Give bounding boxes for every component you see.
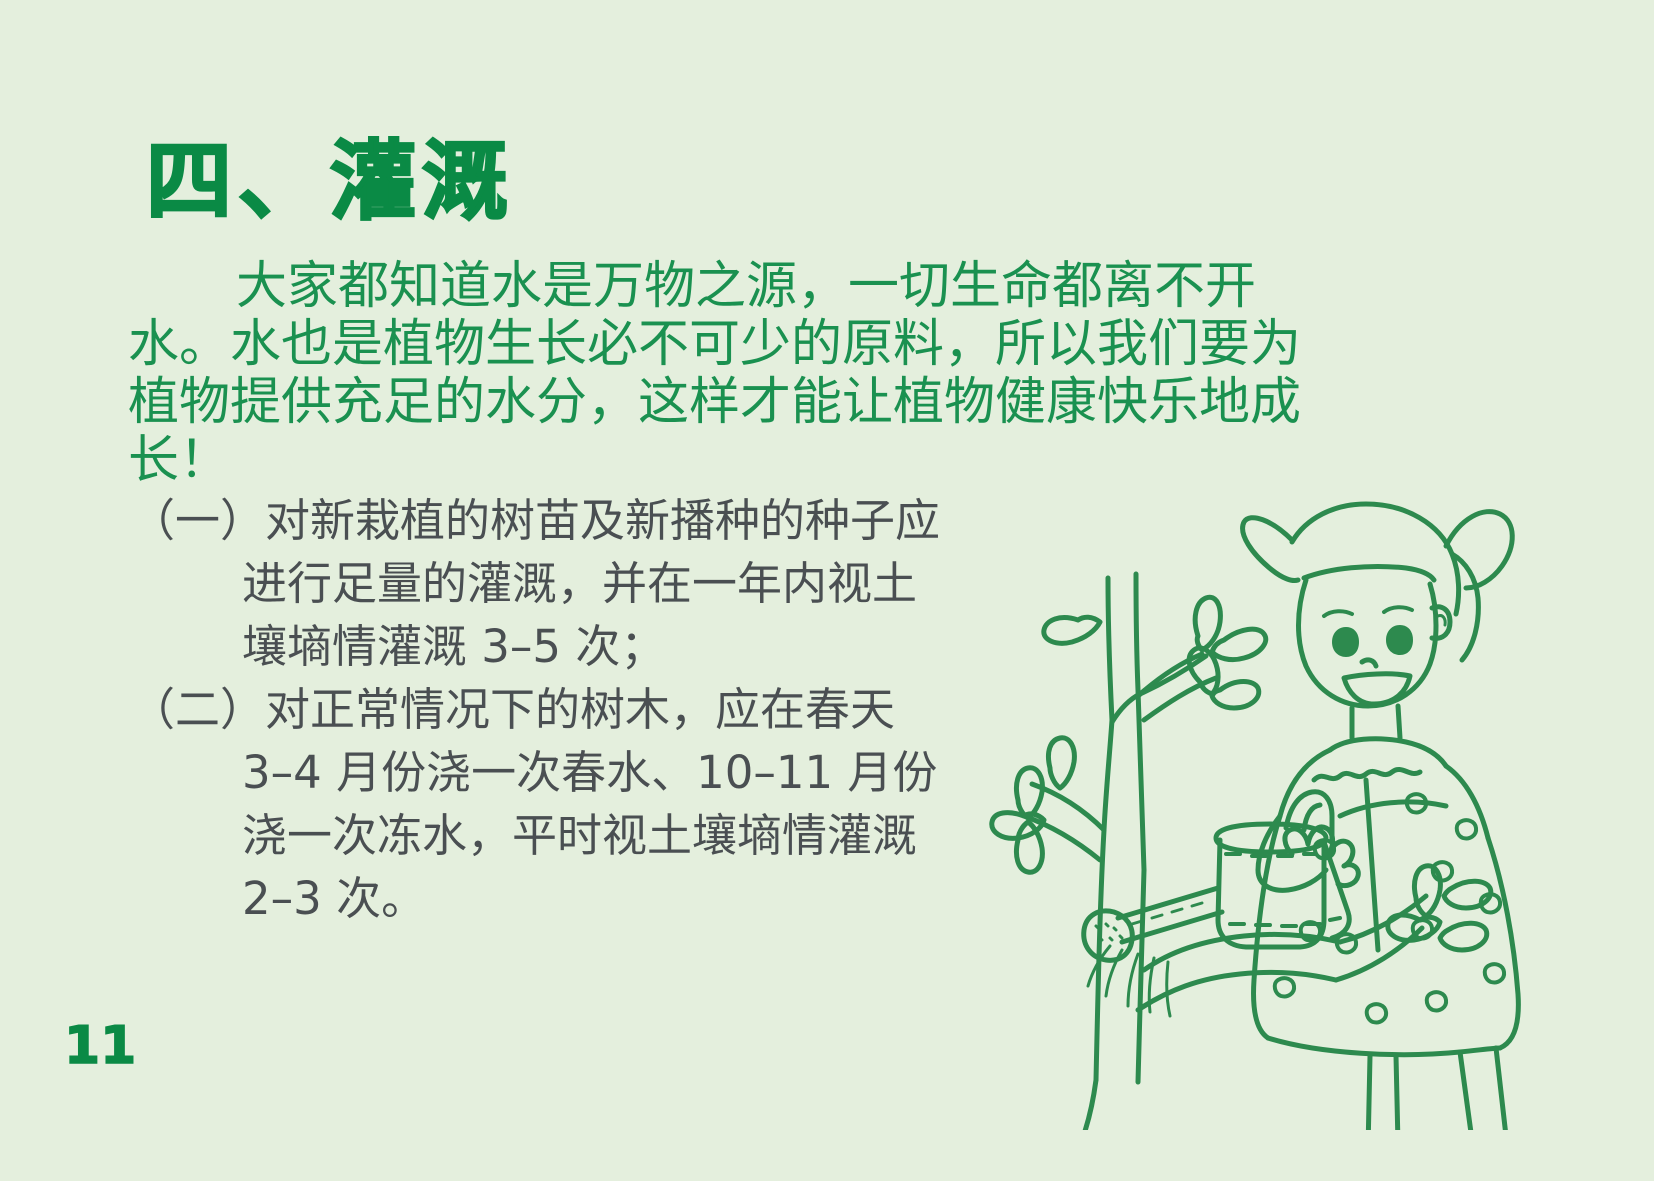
page-title: 四、灌溉 xyxy=(146,139,514,225)
instruction-list: （一）对新栽植的树苗及新播种的种子应进行足量的灌溉，并在一年内视土壤墒情灌溉 3… xyxy=(130,489,960,930)
list-item-text: 对正常情况下的树木，应在春天 3–4 月份浇一次春水、10–11 月份浇一次冻水… xyxy=(242,683,937,925)
illustration xyxy=(900,450,1600,1130)
watering-can-drawing xyxy=(1084,792,1349,961)
list-item-marker: （一） xyxy=(130,494,265,547)
list-item-text: 对新栽植的树苗及新播种的种子应进行足量的灌溉，并在一年内视土壤墒情灌溉 3–5 … xyxy=(242,494,940,673)
list-item: （二）对正常情况下的树木，应在春天 3–4 月份浇一次春水、10–11 月份浇一… xyxy=(130,678,960,930)
tree-drawing xyxy=(992,574,1491,1130)
intro-paragraph: 大家都知道水是万物之源，一切生命都离不开水。水也是植物生长必不可少的原料，所以我… xyxy=(128,258,1308,490)
page-canvas: 四、灌溉 大家都知道水是万物之源，一切生命都离不开水。水也是植物生长必不可少的原… xyxy=(0,0,1654,1181)
list-item: （一）对新栽植的树苗及新播种的种子应进行足量的灌溉，并在一年内视土壤墒情灌溉 3… xyxy=(130,489,960,678)
list-item-marker: （二） xyxy=(130,683,265,736)
page-number: 11 xyxy=(64,1016,136,1076)
water-spray-drawing xyxy=(1088,946,1170,1016)
girl-drawing xyxy=(1243,504,1519,1130)
